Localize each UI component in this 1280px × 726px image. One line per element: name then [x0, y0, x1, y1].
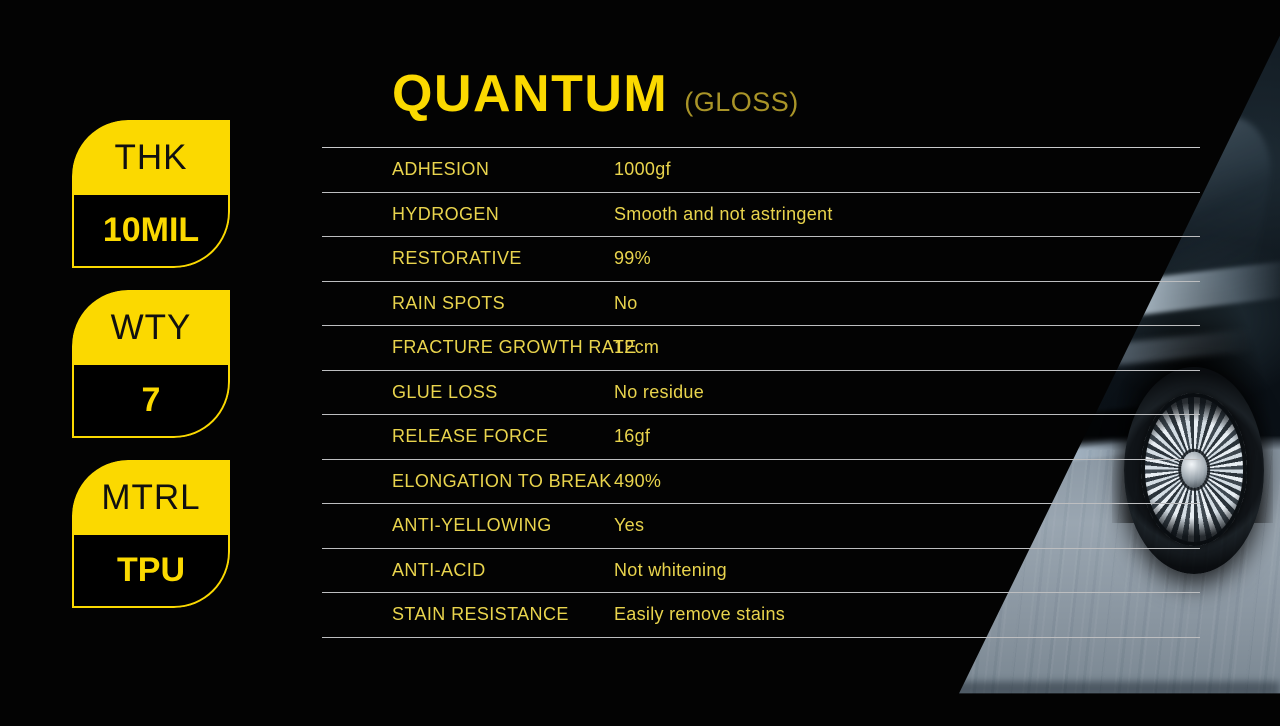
table-row: GLUE LOSSNo residue: [322, 371, 1200, 415]
table-row: RESTORATIVE99%: [322, 237, 1200, 281]
spec-label: RELEASE FORCE: [322, 426, 614, 447]
badge-wty: WTY7: [72, 290, 230, 438]
badge-bottom-value: 10MIL: [72, 195, 230, 268]
badge-mtrl: MTRLTPU: [72, 460, 230, 608]
table-row: RELEASE FORCE16gf: [322, 415, 1200, 459]
badge-thk: THK10MIL: [72, 120, 230, 268]
table-row: FRACTURE GROWTH RATE12cm: [322, 326, 1200, 370]
spec-slide: THK10MILWTY7MTRLTPU QUANTUM (GLOSS) ADHE…: [0, 0, 1280, 726]
badge-bottom-value: TPU: [72, 535, 230, 608]
spec-value: 16gf: [614, 426, 650, 447]
badge-bottom-value: 7: [72, 365, 230, 438]
spec-value: Yes: [614, 515, 644, 536]
table-row: ANTI-ACIDNot whitening: [322, 549, 1200, 593]
badge-value: 7: [142, 383, 161, 417]
spec-label: RAIN SPOTS: [322, 293, 614, 314]
table-row: ADHESION1000gf: [322, 148, 1200, 192]
table-row: ANTI-YELLOWINGYes: [322, 504, 1200, 548]
spec-value: 1000gf: [614, 159, 671, 180]
spec-label: STAIN RESISTANCE: [322, 604, 614, 625]
spec-value: No residue: [614, 382, 704, 403]
page-title: QUANTUM (GLOSS): [392, 68, 799, 120]
spec-value: 99%: [614, 248, 651, 269]
spec-label: HYDROGEN: [322, 204, 614, 225]
product-finish: (GLOSS): [684, 89, 799, 116]
badge-key: MTRL: [101, 480, 200, 515]
spec-label: ADHESION: [322, 159, 614, 180]
table-row: HYDROGENSmooth and not astringent: [322, 193, 1200, 237]
spec-value: Easily remove stains: [614, 604, 785, 625]
spec-value: 12cm: [614, 337, 659, 358]
badge-top-label: WTY: [72, 290, 230, 365]
spec-label: FRACTURE GROWTH RATE: [322, 337, 614, 358]
spec-value: Not whitening: [614, 560, 727, 581]
badge-top-label: MTRL: [72, 460, 230, 535]
badge-key: THK: [115, 140, 188, 175]
badge-value: 10MIL: [103, 213, 199, 247]
table-rule: [322, 637, 1200, 638]
spec-label: ANTI-YELLOWING: [322, 515, 614, 536]
spec-value: Smooth and not astringent: [614, 204, 833, 225]
spec-value: 490%: [614, 471, 661, 492]
table-row: STAIN RESISTANCEEasily remove stains: [322, 593, 1200, 637]
table-row: ELONGATION TO BREAK490%: [322, 460, 1200, 504]
spec-value: No: [614, 293, 638, 314]
badge-column: THK10MILWTY7MTRLTPU: [72, 120, 230, 630]
spec-label: GLUE LOSS: [322, 382, 614, 403]
floor-reflection: [951, 682, 1280, 726]
spec-label: ELONGATION TO BREAK: [322, 471, 614, 492]
table-row: RAIN SPOTSNo: [322, 282, 1200, 326]
spec-table: ADHESION1000gfHYDROGENSmooth and not ast…: [322, 147, 1200, 638]
badge-value: TPU: [117, 553, 185, 587]
spec-label: RESTORATIVE: [322, 248, 614, 269]
badge-key: WTY: [111, 310, 192, 345]
product-name: QUANTUM: [392, 68, 668, 120]
spec-label: ANTI-ACID: [322, 560, 614, 581]
badge-top-label: THK: [72, 120, 230, 195]
